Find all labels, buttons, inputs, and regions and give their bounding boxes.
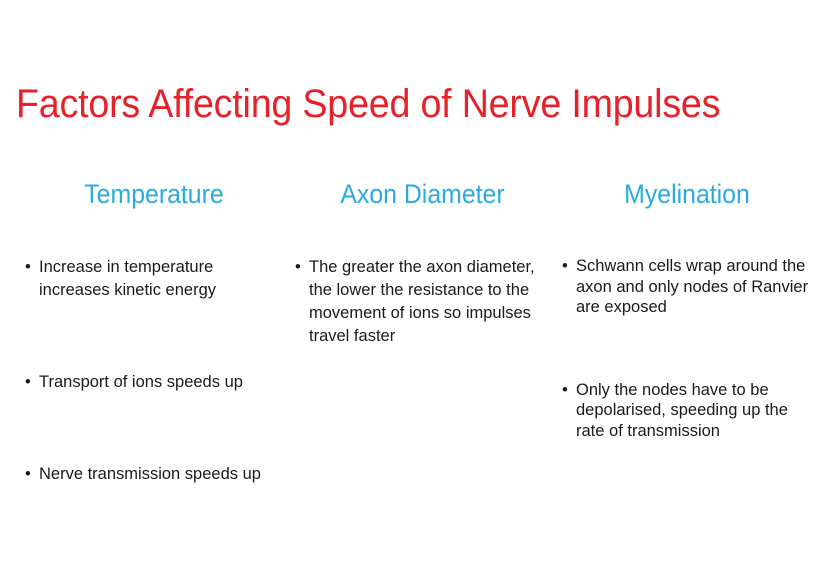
column-heading-temperature: Temperature — [35, 178, 272, 210]
list-item: • The greater the axon diameter, the low… — [295, 256, 550, 348]
list-item: • Nerve transmission speeds up — [25, 463, 283, 486]
list-item: • Only the nodes have to be depolarised,… — [562, 380, 812, 442]
column-myelination: Myelination • Schwann cells wrap around … — [562, 178, 812, 441]
page-title: Factors Affecting Speed of Nerve Impulse… — [16, 80, 720, 128]
column-temperature: Temperature • Increase in temperature in… — [25, 178, 283, 486]
column-heading-myelination: Myelination — [572, 178, 802, 210]
list-item-text: Only the nodes have to be depolarised, s… — [576, 380, 812, 442]
list-item-text: Nerve transmission speeds up — [39, 463, 283, 486]
column-heading-axon-diameter: Axon Diameter — [305, 178, 540, 210]
bullet-list-temperature: • Increase in temperature increases kine… — [25, 256, 283, 486]
column-axon-diameter: Axon Diameter • The greater the axon dia… — [295, 178, 550, 348]
list-item-text: Increase in temperature increases kineti… — [39, 256, 283, 302]
list-item-text: Schwann cells wrap around the axon and o… — [576, 256, 812, 318]
bullet-dot-icon: • — [25, 463, 31, 486]
bullet-dot-icon: • — [562, 256, 568, 277]
bullet-dot-icon: • — [295, 256, 301, 279]
list-item: • Schwann cells wrap around the axon and… — [562, 256, 812, 318]
bullet-list-axon-diameter: • The greater the axon diameter, the low… — [295, 256, 550, 348]
bullet-list-myelination: • Schwann cells wrap around the axon and… — [562, 256, 812, 441]
slide-canvas: Factors Affecting Speed of Nerve Impulse… — [0, 0, 828, 586]
content-columns: Temperature • Increase in temperature in… — [0, 178, 828, 578]
bullet-dot-icon: • — [25, 256, 31, 279]
bullet-dot-icon: • — [25, 371, 31, 394]
list-item-text: Transport of ions speeds up — [39, 371, 283, 394]
bullet-dot-icon: • — [562, 380, 568, 401]
list-item-text: The greater the axon diameter, the lower… — [309, 256, 550, 348]
list-item: • Transport of ions speeds up — [25, 371, 283, 394]
list-item: • Increase in temperature increases kine… — [25, 256, 283, 302]
